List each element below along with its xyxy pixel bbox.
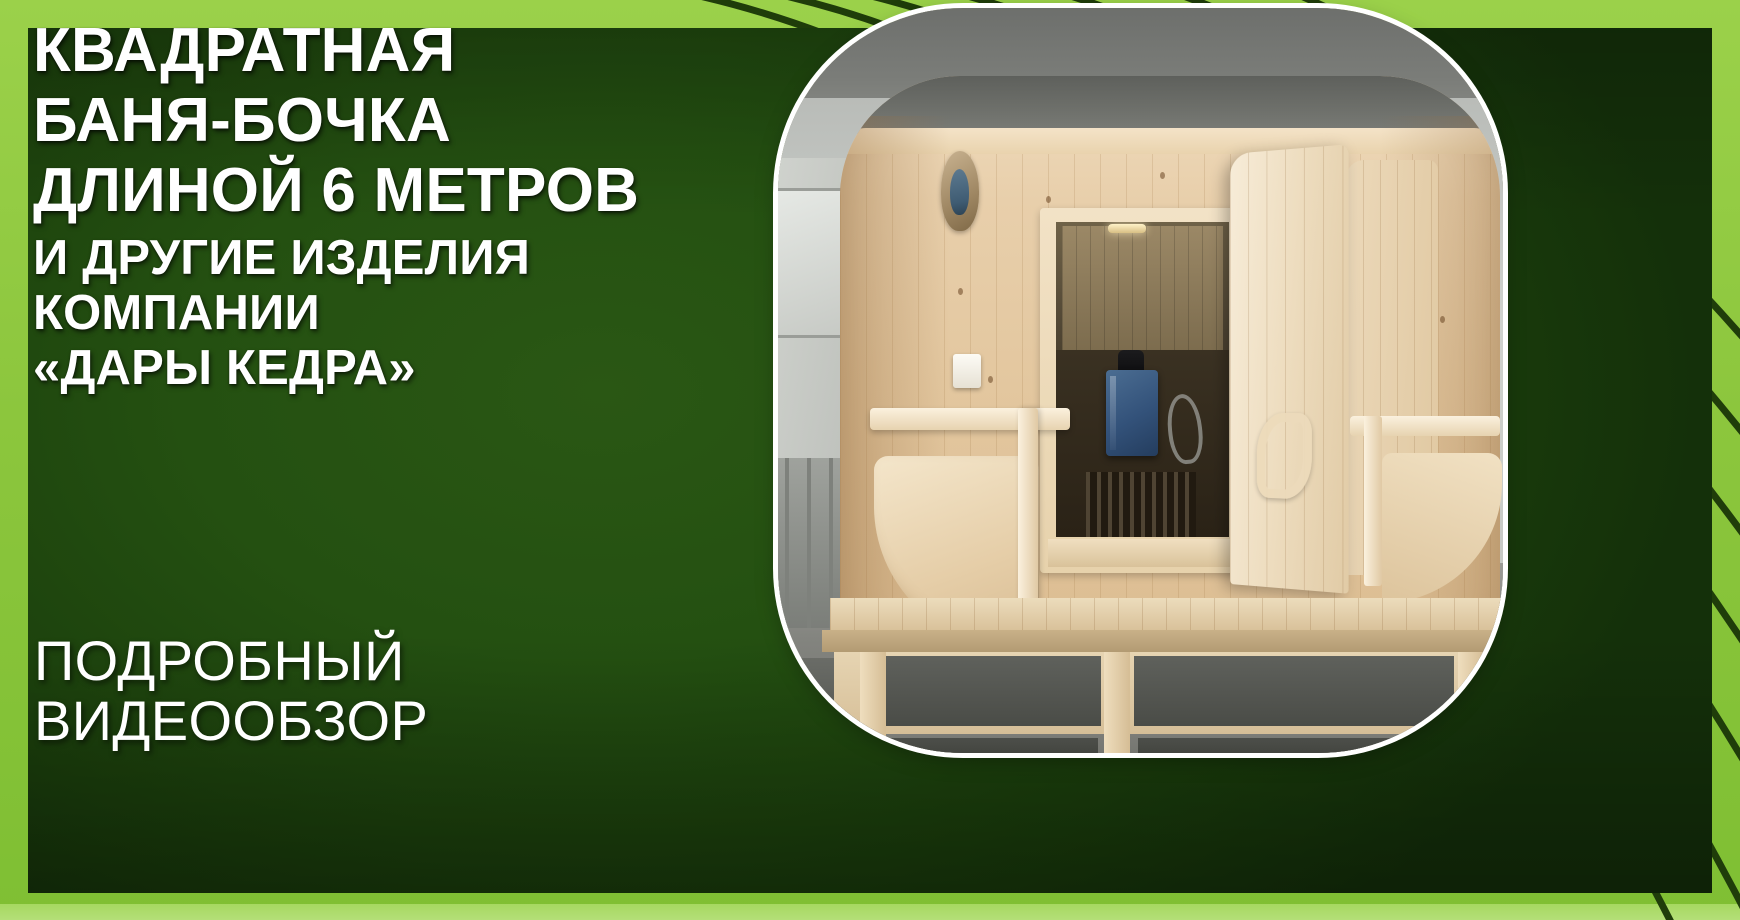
wood-knot (1046, 196, 1051, 203)
deck-plank-band (830, 598, 1502, 632)
blue-water-heater (1106, 370, 1158, 456)
headline-block: КВАДРАТНАЯ БАНЯ-БОЧКА ДЛИНОЙ 6 МЕТРОВ И … (33, 21, 793, 394)
interior-light (1108, 224, 1146, 233)
interior-grate (1086, 472, 1196, 537)
wood-knot (958, 288, 963, 295)
subheadline-line-3: «ДАРЫ КЕДРА» (33, 343, 793, 394)
heater-highlight (1110, 376, 1116, 450)
open-door-leaf (1230, 144, 1349, 594)
support-leg (1104, 652, 1130, 753)
wall-switch-plate (953, 354, 981, 388)
wall-lamp-glass (950, 169, 969, 215)
left-handrail (870, 408, 1070, 430)
ground-mat (848, 738, 1098, 753)
ground-mat (1138, 738, 1468, 753)
base-opening (1134, 656, 1454, 726)
headline-line-2: БАНЯ-БОЧКА (33, 91, 793, 151)
subheadline-line-2: КОМПАНИИ (33, 288, 793, 339)
wall-lamp (941, 151, 979, 231)
bottom-light-green-band (0, 904, 1740, 920)
footer-line-2: ВИДЕООБЗОР (34, 691, 428, 751)
wood-knot (1440, 316, 1445, 323)
door-frame (1040, 208, 1245, 573)
wood-knot (1160, 172, 1165, 179)
subheadline-line-1: И ДРУГИЕ ИЗДЕЛИЯ (33, 233, 793, 284)
headline-line-1: КВАДРАТНАЯ (33, 21, 793, 81)
interior-back-wall (1062, 226, 1223, 356)
barrel-sauna-photo (778, 8, 1503, 753)
wood-knot (988, 376, 993, 383)
footer-block: ПОДРОБНЫЙ ВИДЕООБЗОР (34, 631, 428, 752)
footer-line-1: ПОДРОБНЫЙ (34, 631, 428, 691)
left-rail-post (1018, 408, 1038, 608)
photo-canvas (778, 8, 1503, 753)
headline-line-3: ДЛИНОЙ 6 МЕТРОВ (33, 161, 793, 221)
base-opening (886, 656, 1101, 726)
right-rail-post (1364, 416, 1382, 586)
door-sill (1048, 539, 1237, 567)
door-handle (1257, 412, 1312, 500)
deck-edge-beam (822, 630, 1503, 652)
interior-doorway (1056, 222, 1229, 537)
youtube-thumbnail: КВАДРАТНАЯ БАНЯ-БОЧКА ДЛИНОЙ 6 МЕТРОВ И … (0, 0, 1740, 920)
